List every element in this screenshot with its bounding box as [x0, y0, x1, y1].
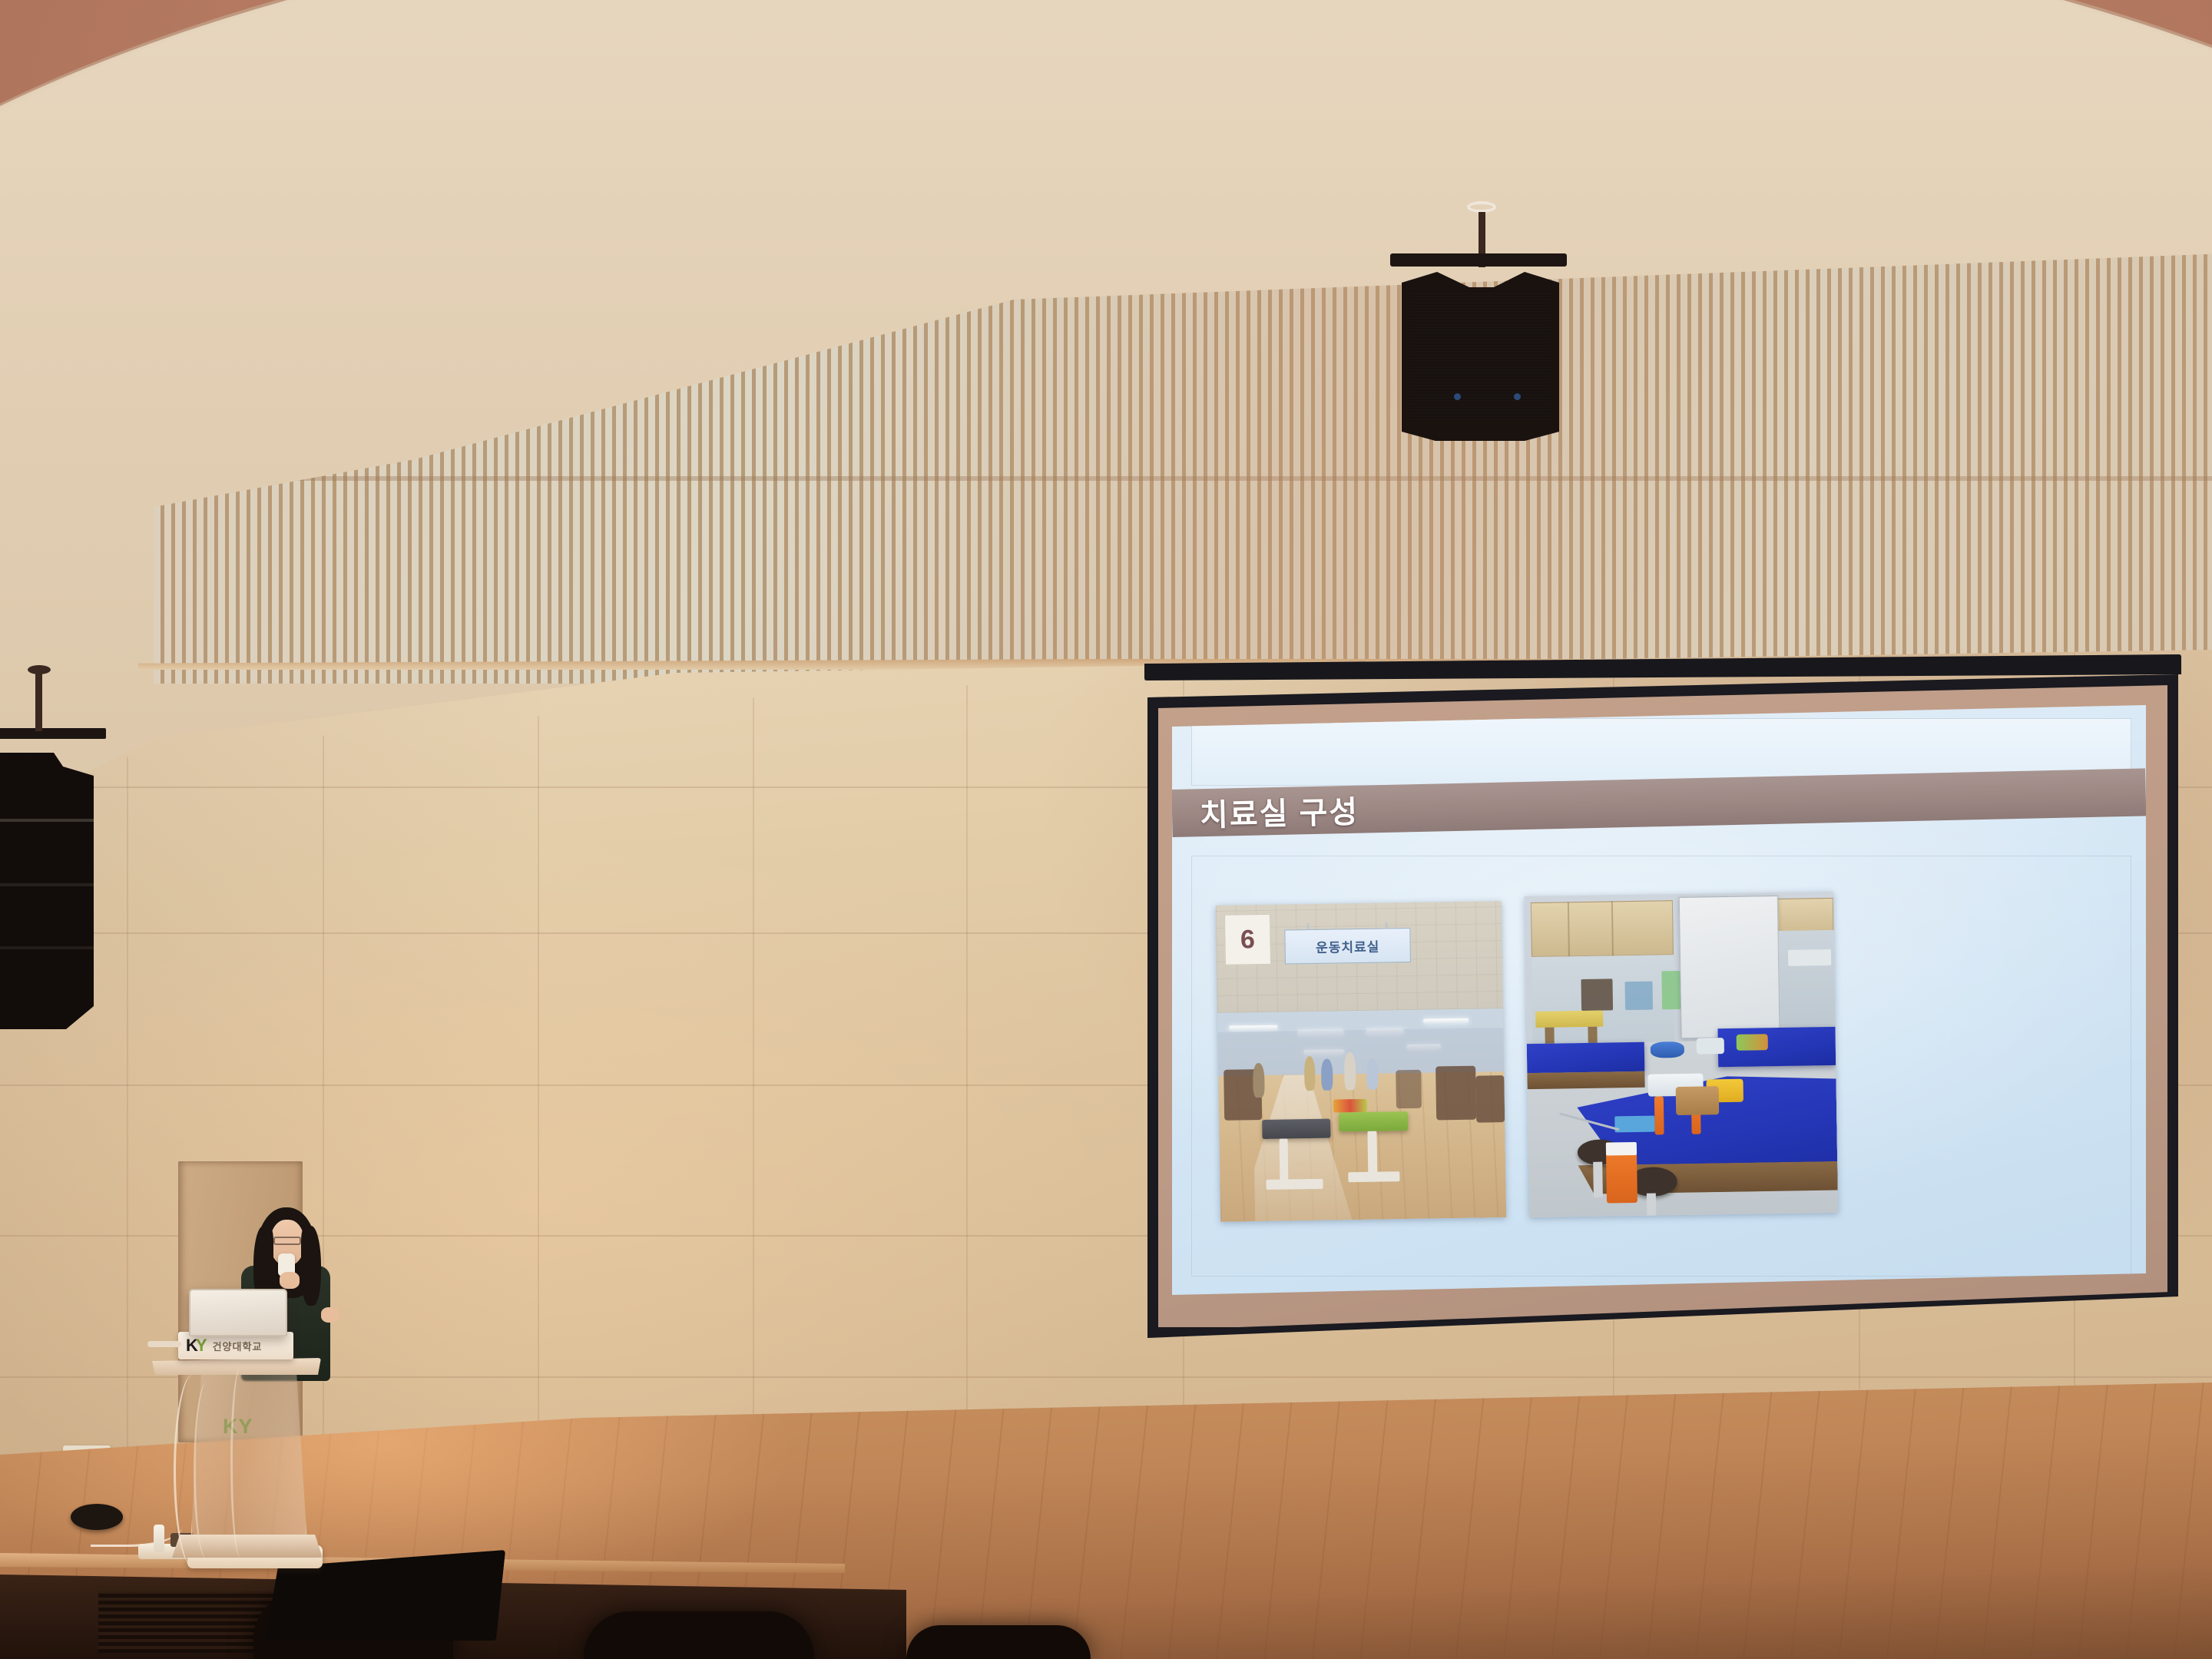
university-name: 건양대학교 [213, 1339, 263, 1353]
line-array-speaker [0, 753, 94, 1029]
tissue-white [1605, 1142, 1636, 1155]
ceiling-light-tube [1423, 1018, 1469, 1024]
podium-cable [194, 1382, 220, 1559]
pd-child-table [1535, 1011, 1604, 1028]
toy-blue-bowl [1651, 1041, 1685, 1058]
pd-shelf [1788, 949, 1832, 966]
presenter-glasses [273, 1237, 301, 1245]
speaker-rigging-truss [0, 728, 106, 739]
pd-green-panel [1661, 971, 1681, 1010]
array-module-seam [0, 883, 94, 886]
ceiling-light-tube [1229, 1025, 1277, 1030]
table-leg [1368, 1131, 1377, 1175]
blue-mat-right [1718, 1026, 1836, 1067]
toy-wooden-house [1676, 1086, 1720, 1115]
audience-silhouette [584, 1611, 814, 1659]
projected-slide: 치료실 구성 6 운동치료실 [1172, 705, 2146, 1295]
wall-seam [127, 757, 128, 1479]
toy-blue-cloth [1614, 1116, 1655, 1133]
pt-colored-items [1333, 1099, 1368, 1112]
auditorium-scene: 치료실 구성 6 운동치료실 [0, 0, 2212, 1659]
toy-misc [1737, 1034, 1768, 1051]
pd-furniture [1581, 979, 1613, 1011]
wall-seam [538, 716, 539, 1479]
pt-equipment [1396, 1070, 1422, 1108]
table-base [1266, 1179, 1323, 1190]
array-module-seam [0, 946, 94, 949]
toy-misc [1697, 1038, 1724, 1054]
ceiling-speaker [1402, 270, 1559, 441]
speaker-indicator-led [1454, 393, 1461, 400]
water-bottle [154, 1525, 164, 1552]
pt-person [1253, 1063, 1265, 1098]
pd-whiteboard [1679, 896, 1780, 1038]
photo-pediatric-therapy-room [1525, 892, 1839, 1217]
speaker-grille [1411, 291, 1549, 421]
presenter-hair-right [301, 1226, 321, 1306]
slide-title: 치료실 구성 [1199, 787, 1359, 836]
pt-person [1343, 1052, 1356, 1091]
ky-logo: KY [186, 1337, 207, 1354]
presenter-hand-right [321, 1307, 339, 1323]
array-mount-cap [28, 665, 51, 674]
ky-logo-y: Y [196, 1337, 207, 1354]
pt-person [1366, 1058, 1379, 1090]
photo-exercise-therapy-room: 6 운동치료실 [1216, 901, 1506, 1222]
podium-microphone-stand [147, 1341, 181, 1347]
treatment-table-green [1339, 1111, 1408, 1131]
presenter-hand [280, 1272, 300, 1289]
wall-seam [966, 685, 968, 1479]
pd-right-background [1778, 930, 1836, 1040]
blue-mat-far [1527, 1042, 1644, 1073]
projection-screen-assembly: 치료실 구성 6 운동치료실 [1137, 654, 2197, 1338]
stool-post [1594, 1162, 1604, 1197]
wall-cabinet [1531, 901, 1674, 958]
array-module-seam [0, 819, 94, 822]
array-hang-rod [35, 673, 42, 731]
pt-equipment [1475, 1075, 1505, 1123]
speaker-hang-bar [1390, 253, 1567, 267]
toy-table-leg [1654, 1097, 1664, 1135]
podium-cable [230, 1367, 250, 1558]
pt-person [1321, 1058, 1333, 1090]
treatment-table-grey [1262, 1119, 1331, 1139]
orange-bin [1605, 1148, 1637, 1204]
table-base [1349, 1171, 1400, 1181]
stool-post [1647, 1193, 1657, 1215]
room-name-sign: 운동치료실 [1285, 928, 1411, 965]
floor-number-sign: 6 [1224, 914, 1271, 965]
pt-equipment [1435, 1066, 1476, 1121]
audience-silhouette [906, 1625, 1091, 1659]
screen-housing [1144, 654, 2181, 680]
pd-furniture [1624, 981, 1653, 1010]
ceiling-mount-ring [1467, 201, 1496, 213]
mat-wood-edge [1527, 1071, 1644, 1089]
table-leg [1280, 1138, 1289, 1183]
speaker-indicator-led [1514, 393, 1521, 400]
wall-seam [753, 697, 754, 1479]
presenter-laptop[interactable] [189, 1289, 287, 1336]
